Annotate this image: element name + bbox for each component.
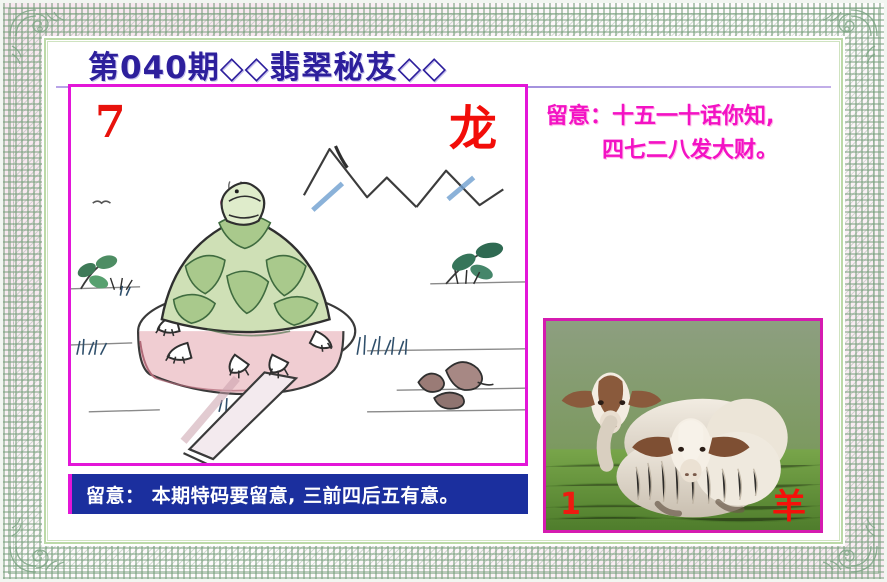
notice-banner: 留意： 本期特码要留意, 三前四后五有意。 bbox=[68, 474, 528, 514]
main-picture-zodiac: 龙 bbox=[449, 105, 497, 153]
main-picture-box: 7 龙 bbox=[68, 84, 528, 466]
photo-number: 1 bbox=[560, 490, 581, 520]
photo-zodiac: 羊 bbox=[772, 490, 806, 524]
page-title: 第040期◇◇翡翠秘芨◇◇ bbox=[88, 42, 447, 87]
side-note-line-2: 四七二八发大财。 bbox=[546, 134, 836, 168]
side-note: 留意：十五一十话你知, 四七二八发大财。 bbox=[546, 100, 836, 168]
sheep-photo-box: 1 羊 bbox=[543, 318, 823, 533]
main-picture-number: 7 bbox=[95, 101, 126, 145]
notice-banner-text: 留意： 本期特码要留意, 三前四后五有意。 bbox=[72, 481, 459, 508]
side-note-line-1: 留意：十五一十话你知, bbox=[546, 104, 774, 129]
poster: 第040期◇◇翡翠秘芨◇◇ bbox=[0, 0, 887, 582]
poster-content: 第040期◇◇翡翠秘芨◇◇ bbox=[48, 42, 839, 540]
